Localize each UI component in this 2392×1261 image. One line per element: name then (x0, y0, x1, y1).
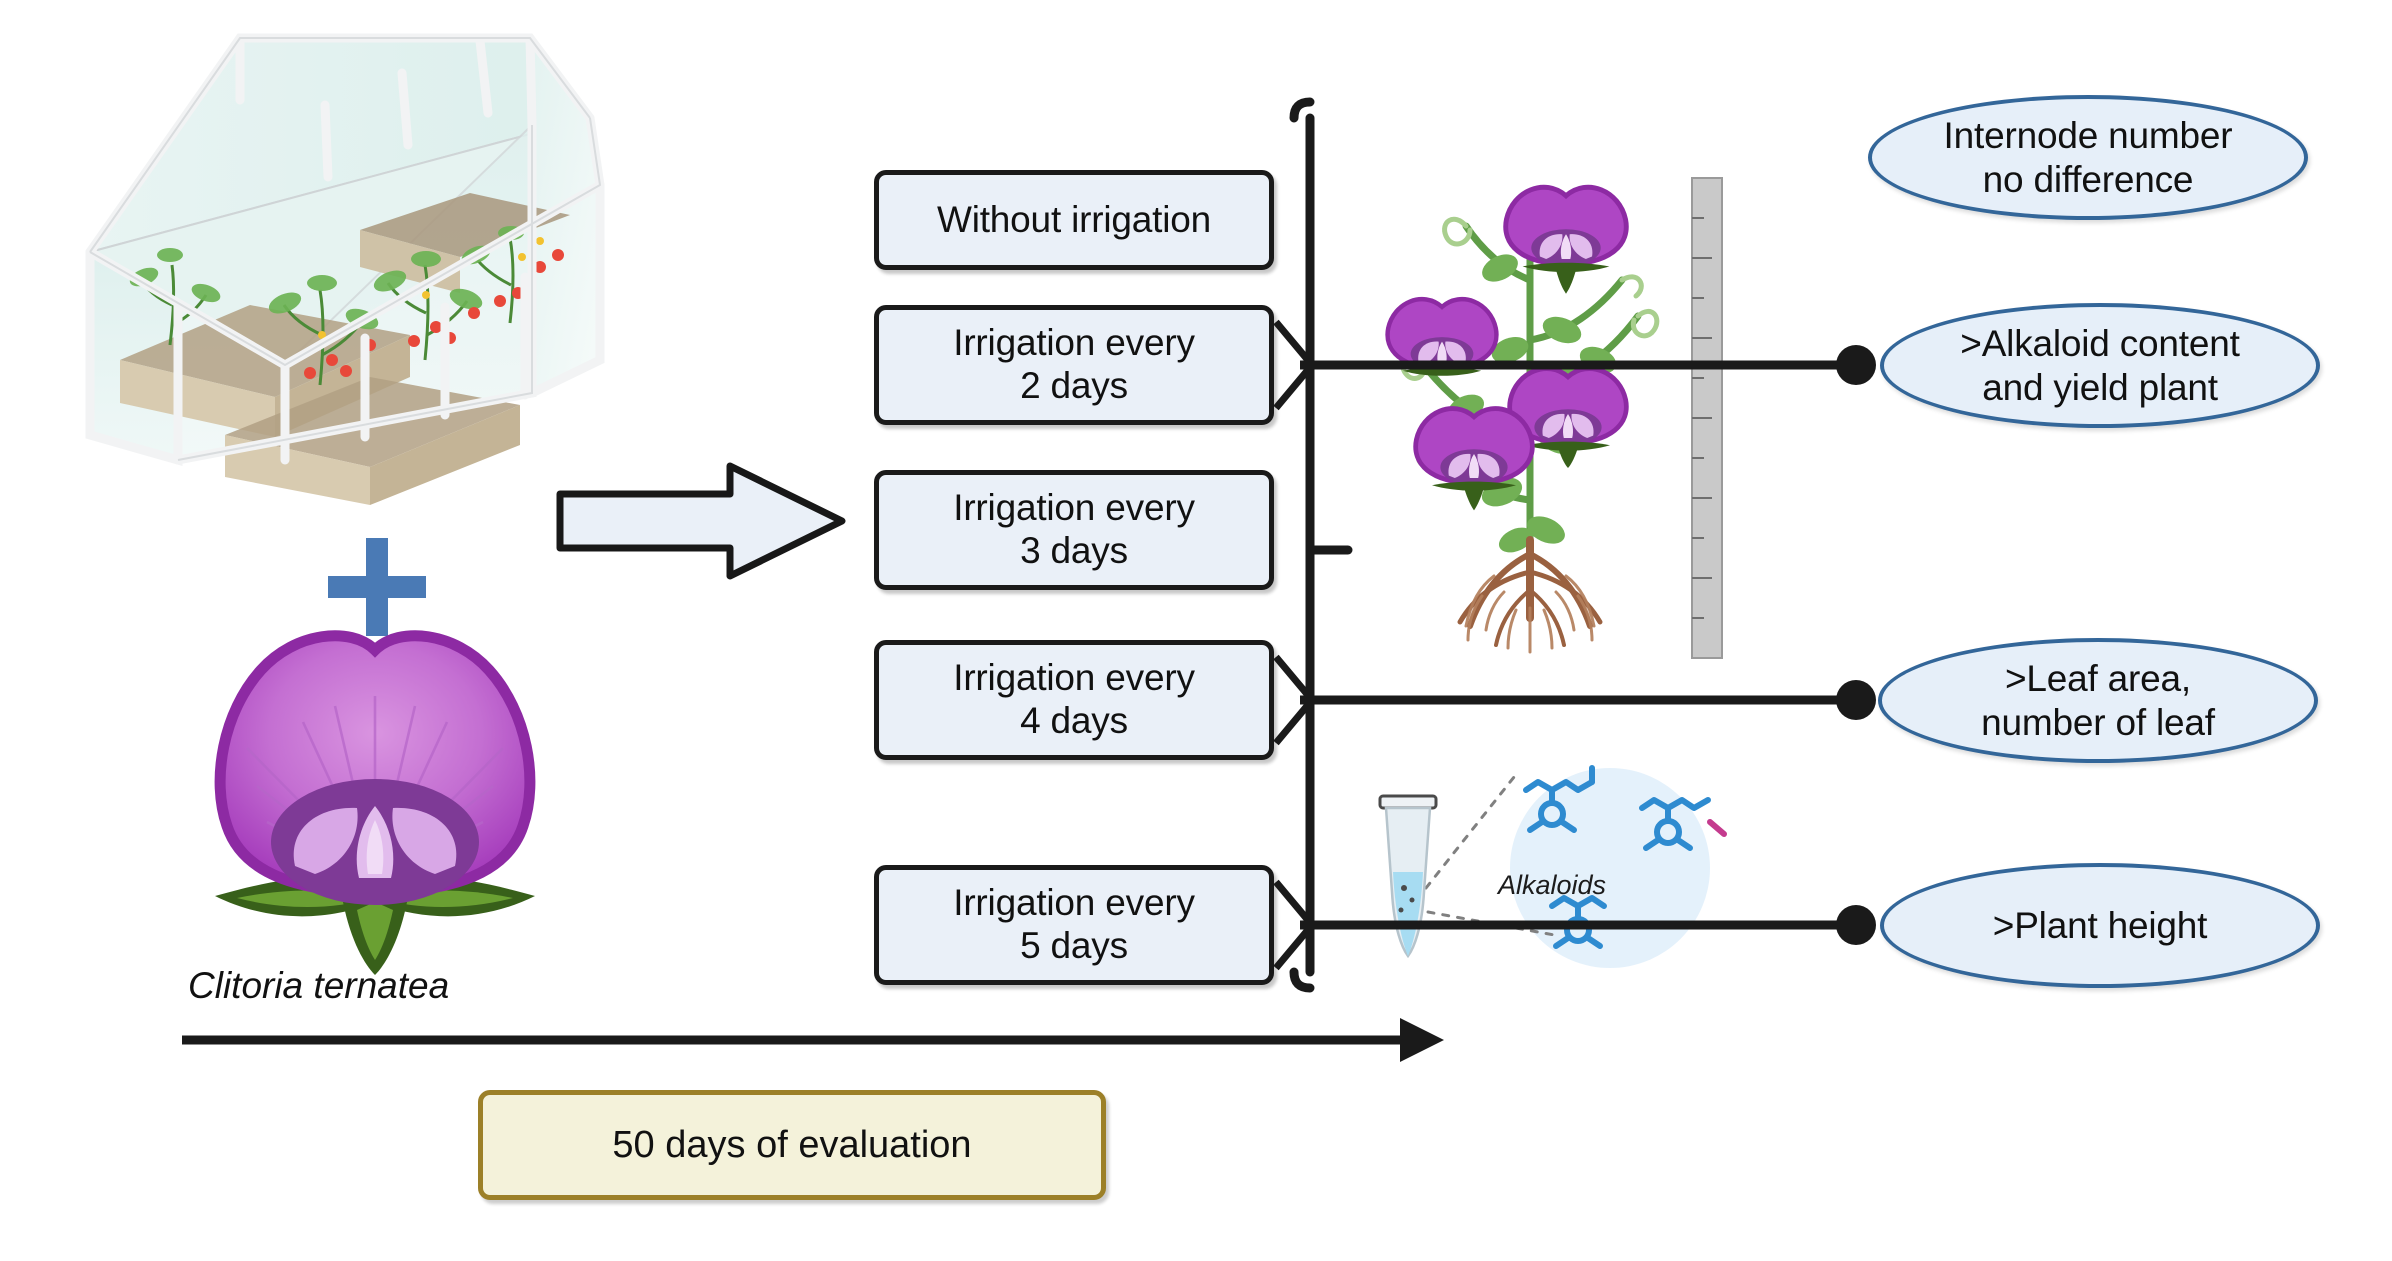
outcome-internode-number[interactable]: Internode number no difference (1868, 95, 2308, 220)
outcome-plant-height[interactable]: >Plant height (1880, 863, 2320, 988)
graphical-abstract-figure: Clitoria ternatea Without irrigation Irr… (0, 0, 2392, 1261)
outcome-leaf-area[interactable]: >Leaf area, number of leaf (1878, 638, 2318, 763)
evaluation-duration-box[interactable]: 50 days of evaluation (478, 1090, 1106, 1200)
outcome-alkaloid-content[interactable]: >Alkaloid content and yield plant (1880, 303, 2320, 428)
